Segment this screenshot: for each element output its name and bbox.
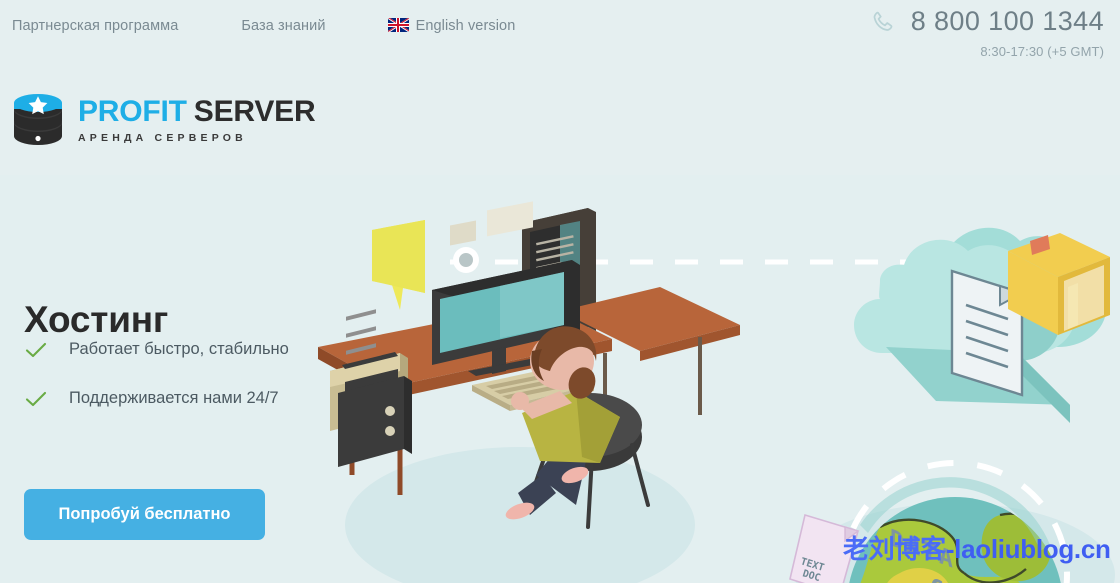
top-links: Партнерская программа База знаний Englis… — [12, 18, 515, 34]
try-free-button[interactable]: Попробуй бесплатно — [24, 489, 265, 540]
logo-name-profit: PROFIT — [78, 95, 187, 128]
hero-section: DATA CLOUD TEXT DOC TEXT — [0, 175, 1120, 583]
page-root: Партнерская программа База знаний Englis… — [0, 0, 1120, 583]
logo-tagline: АРЕНДА СЕРВЕРОВ — [78, 132, 315, 144]
phone-block: 8 800 100 1344 8:30-17:30 (+5 GMT) — [871, 8, 1104, 59]
check-icon — [25, 342, 47, 358]
logo-name-server: SERVER — [194, 95, 316, 128]
hero-feature-0-label: Работает быстро, стабильно — [69, 340, 289, 359]
uk-flag-icon — [388, 18, 409, 32]
server-stack-icon — [10, 92, 66, 148]
check-icon — [25, 391, 47, 407]
site-header: PROFITSERVER АРЕНДА СЕРВЕРОВ Виртуальные… — [0, 80, 1120, 175]
watermark-domain: -laoliublog.cn — [946, 534, 1111, 564]
phone-icon — [871, 9, 897, 35]
top-link-knowledge-base[interactable]: База знаний — [241, 18, 325, 34]
phone-working-hours: 8:30-17:30 (+5 GMT) — [871, 44, 1104, 59]
hero-feature-1-label: Поддерживается нами 24/7 — [69, 389, 279, 408]
top-link-english-version[interactable]: English version — [388, 18, 516, 34]
logo[interactable]: PROFITSERVER АРЕНДА СЕРВЕРОВ — [10, 92, 315, 148]
watermark: 老刘博客-laoliublog.cn — [843, 529, 1111, 566]
watermark-cn: 老刘博客 — [843, 534, 946, 564]
top-link-partner-program[interactable]: Партнерская программа — [12, 18, 178, 34]
logo-text: PROFITSERVER АРЕНДА СЕРВЕРОВ — [78, 97, 315, 144]
hero-feature-0: Работает быстро, стабильно — [25, 340, 289, 359]
phone-number[interactable]: 8 800 100 1344 — [911, 8, 1104, 35]
page-title: Хостинг — [24, 299, 168, 341]
top-link-english-label: English version — [416, 18, 516, 34]
top-bar: Партнерская программа База знаний Englis… — [0, 0, 1120, 80]
hero-feature-1: Поддерживается нами 24/7 — [25, 389, 279, 408]
